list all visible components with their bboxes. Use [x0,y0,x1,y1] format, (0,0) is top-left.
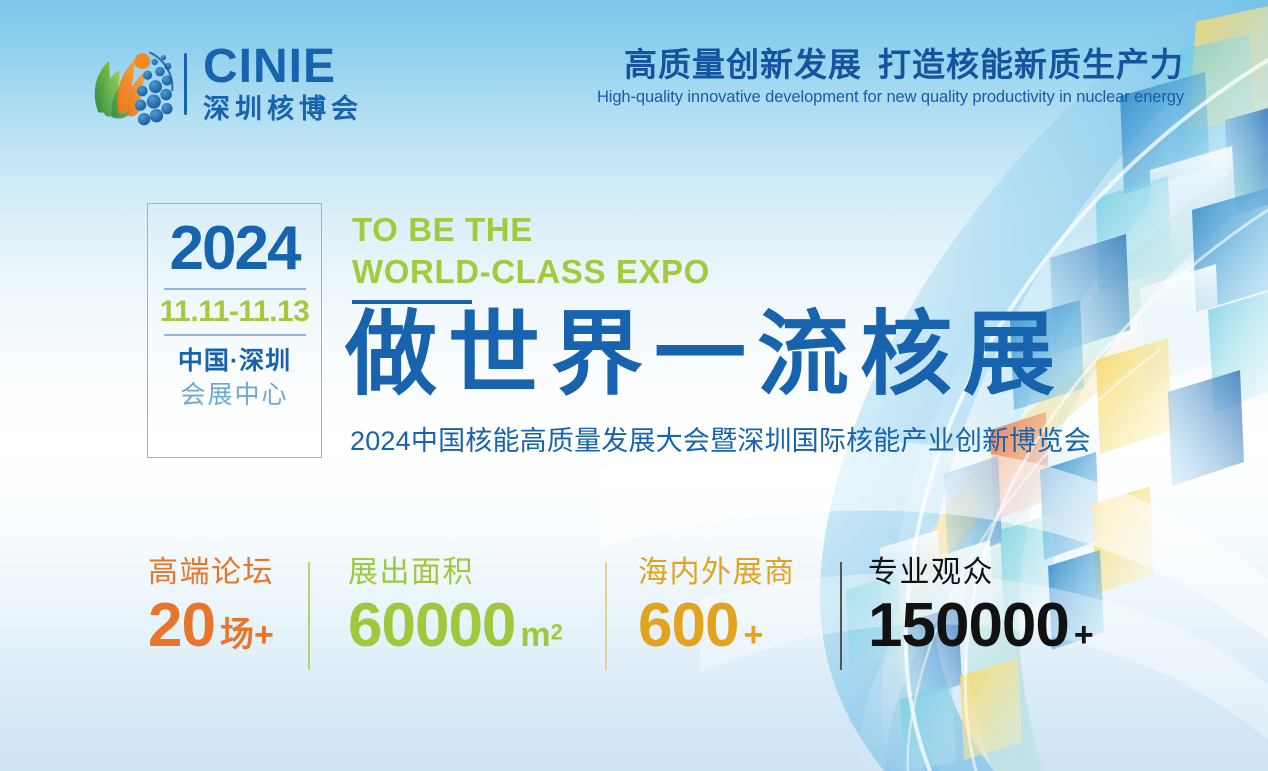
stat-label: 高端论坛 [148,556,274,589]
event-date-range: 11.11-11.13 [160,296,310,328]
slogan: 高质量创新发展打造核能新质生产力 High-quality innovative… [597,46,1184,107]
stat-divider-3 [840,562,842,670]
date-venue-box: 2024 11.11-11.13 中国·深圳 会展中心 [147,203,322,458]
headline-english: TO BE THE WORLD-CLASS EXPO [352,209,710,293]
brand-name: CINIE [203,43,363,92]
slogan-cn-part1: 高质量创新发展 [624,46,862,83]
stats-row: 高端论坛 20场+ 展出面积 60000m2 海内外展商 600+ 专业观众 1… [140,556,1130,681]
slogan-cn-part2: 打造核能新质生产力 [878,46,1184,83]
headline-chinese: 做世界一流核展 [345,306,1066,405]
stat-superscript: 2 [551,620,563,645]
stat-label: 专业观众 [868,556,1094,589]
expo-banner: CINIE 深圳核博会 高质量创新发展打造核能新质生产力 High-qualit… [0,0,1268,771]
stat-forums: 高端论坛 20场+ [148,556,274,657]
stat-value: 600+ [638,595,796,657]
slogan-en: High-quality innovative development for … [597,88,1184,107]
slogan-cn: 高质量创新发展打造核能新质生产力 [597,46,1184,85]
headline-subtitle: 2024中国核能高质量发展大会暨深圳国际核能产业创新博览会 [350,419,1091,458]
stat-divider-1 [308,562,310,670]
stat-divider-2 [605,562,607,670]
stat-label: 展出面积 [348,556,563,589]
event-city: 中国·深圳 [178,346,291,377]
stat-value: 20场+ [148,595,274,657]
banner-header: CINIE 深圳核博会 高质量创新发展打造核能新质生产力 High-qualit… [0,0,1268,150]
cinie-leaf-globe-logo-icon [86,40,174,128]
stat-number: 60000 [348,591,515,660]
stat-unit: m [520,616,550,654]
stat-exhibitors: 海内外展商 600+ [638,556,796,657]
date-rule-bottom [164,334,306,336]
headline-en-line1: TO BE THE [352,209,710,251]
stat-value: 150000+ [868,595,1094,657]
stat-exhibit-area: 展出面积 60000m2 [348,556,563,657]
brand-name-cn: 深圳核博会 [203,94,363,125]
stat-number: 150000 [868,591,1069,660]
stat-value: 60000m2 [348,595,563,657]
stat-unit: 场+ [220,616,274,654]
event-venue: 会展中心 [180,379,288,412]
stat-unit: + [743,616,763,654]
headline-en-line2: WORLD-CLASS EXPO [352,251,710,293]
brand-logo[interactable]: CINIE 深圳核博会 [86,38,363,130]
date-rule-top [164,288,306,290]
stat-unit: + [1074,616,1094,654]
stat-number: 20 [148,591,215,660]
logo-wordmark: CINIE 深圳核博会 [203,43,363,125]
event-year: 2024 [170,218,300,280]
stat-number: 600 [638,591,738,660]
stat-visitors: 专业观众 150000+ [868,556,1094,657]
logo-divider [184,53,187,115]
stat-label: 海内外展商 [638,556,796,589]
